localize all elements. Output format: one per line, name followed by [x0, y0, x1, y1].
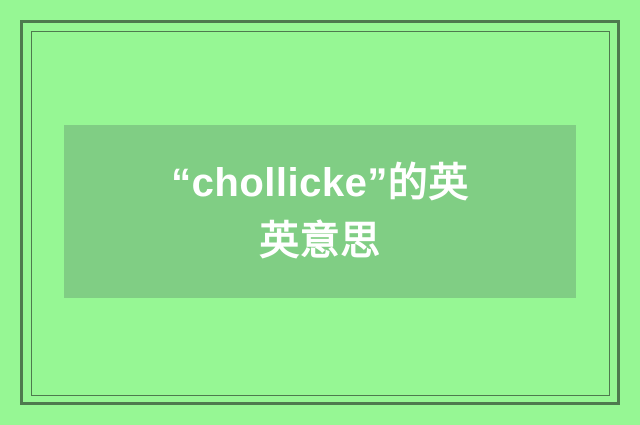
page-canvas: “chollicke”的英英意思	[0, 0, 640, 425]
page-title: “chollicke”的英英意思	[155, 154, 485, 270]
title-panel: “chollicke”的英英意思	[64, 125, 576, 298]
